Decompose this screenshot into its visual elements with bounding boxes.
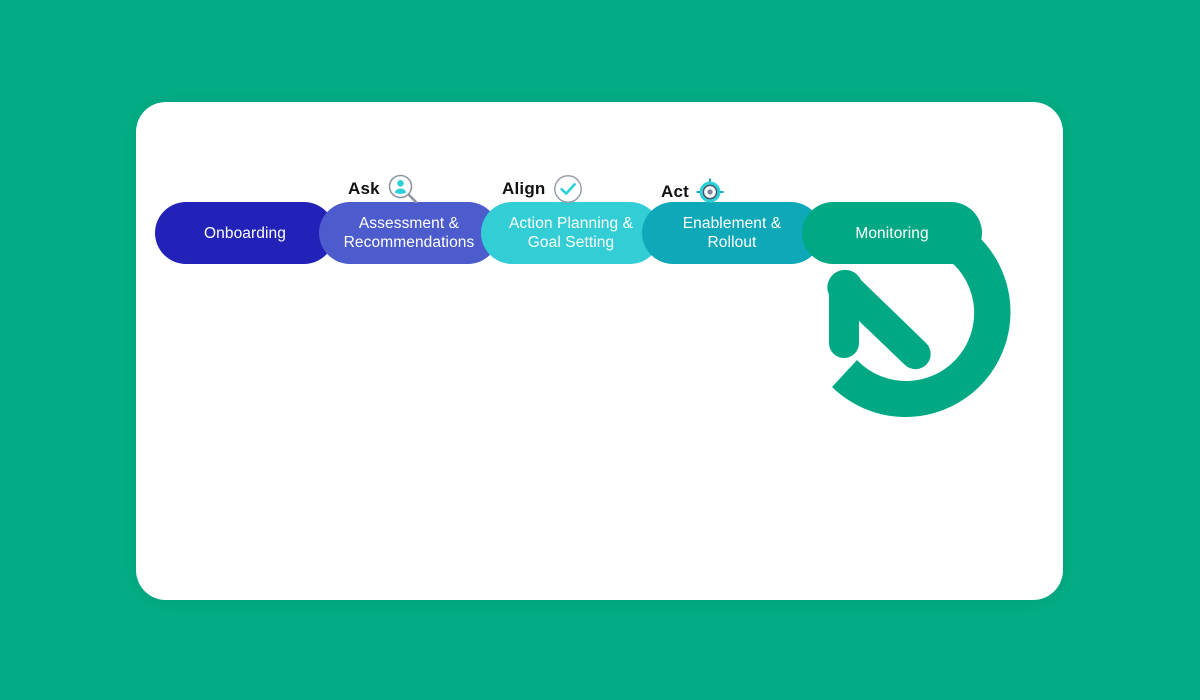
magnifier-person-icon (387, 173, 419, 205)
target-crosshair-icon (696, 178, 724, 206)
process-flow-diagram: Onboarding Assessment & Recommendations … (136, 102, 1063, 600)
stage-pills (155, 202, 982, 264)
phase-align: Align (502, 174, 583, 204)
stage-pill-action-planning-goal-setting[interactable] (481, 202, 661, 264)
stage-pill-assessment-recommendations[interactable] (319, 202, 499, 264)
phase-act: Act (661, 177, 724, 207)
flow-graphics-layer (136, 102, 1063, 600)
stage-pill-onboarding[interactable] (155, 202, 335, 264)
stage-pill-enablement-rollout[interactable] (642, 202, 822, 264)
phase-ask-label: Ask (348, 179, 380, 199)
stage-pill-monitoring[interactable] (802, 202, 982, 264)
phase-ask: Ask (348, 174, 419, 204)
phase-act-label: Act (661, 182, 689, 202)
check-circle-icon (553, 174, 583, 204)
phase-align-label: Align (502, 179, 546, 199)
diagram-card: Onboarding Assessment & Recommendations … (136, 102, 1063, 600)
